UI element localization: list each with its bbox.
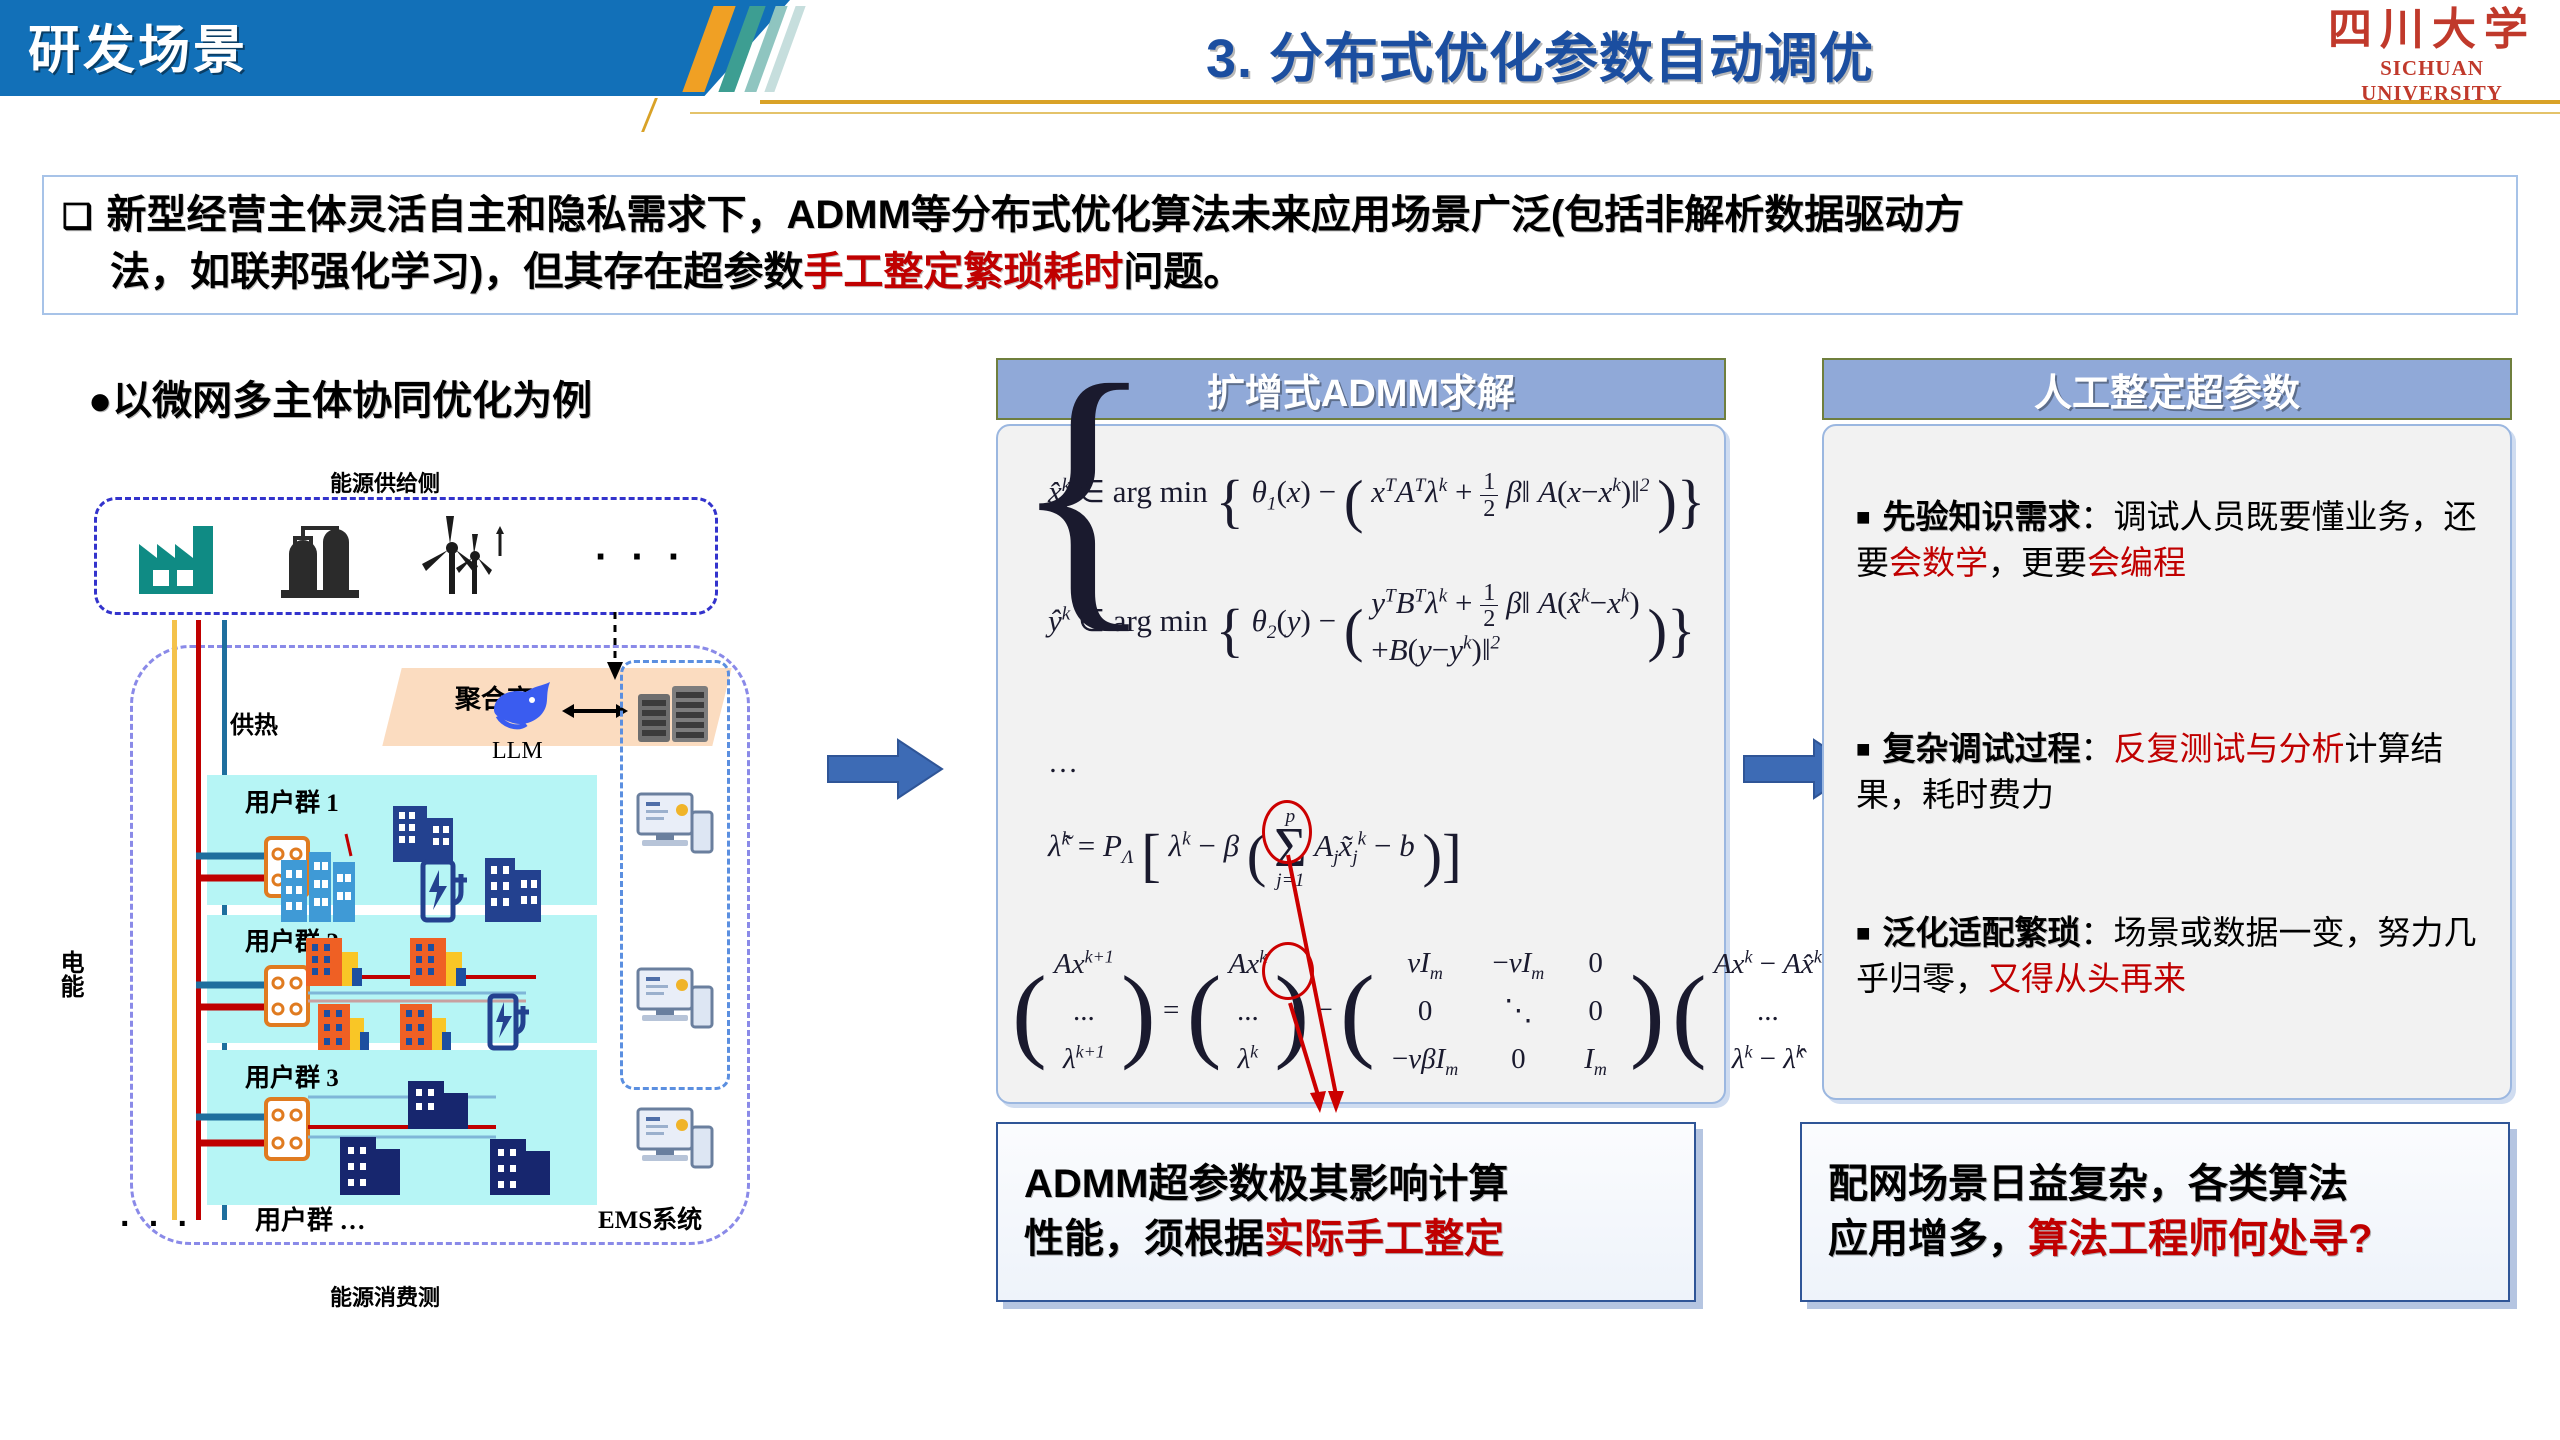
- equation-ellipsis: …: [1048, 746, 1078, 780]
- middle-conclusion-line2: 性能，须根据: [1024, 1217, 1264, 1261]
- bullet-square-icon-3: ■: [1856, 920, 1871, 947]
- bullet-square-icon-2: ■: [1856, 736, 1871, 763]
- bullet-square-icon-1: ■: [1856, 504, 1871, 531]
- ems-monitor-icon-2: [636, 965, 718, 1031]
- scene-tag: 研发场景: [28, 8, 248, 83]
- right-panel-header: 人工整定超参数: [1822, 358, 2512, 420]
- bullet-2-part-1: 反复测试与分析: [2114, 730, 2345, 767]
- flow-arrow-1: [826, 738, 944, 800]
- slide-header: 研发场景 3. 分布式优化参数自动调优 四川大学 SICHUAN UNIVERS…: [0, 0, 2560, 120]
- wind-turbine-icon: [412, 510, 512, 602]
- callout-line-2: 法，如联邦强化学习)，但其存在超参数手工整定繁琐耗时问题。: [62, 244, 2498, 301]
- group-3-buildings: [330, 1075, 590, 1205]
- equation-x-update: x̂k ∈ arg min { θ1(x) − ( xTATλk + 12 β‖…: [1048, 468, 1705, 536]
- bullet-1-title: 先验知识需求: [1883, 498, 2081, 535]
- equation-matrix-form: ( Axk+1 ... λk+1 ) = ( Axk ... λk ) − ( …: [1012, 940, 1864, 1085]
- right-conclusion-highlight: 算法工程师何处寻?: [2028, 1217, 2372, 1261]
- bullet-2-title: 复杂调试过程: [1883, 730, 2081, 767]
- university-logo: 四川大学 SICHUAN UNIVERSITY: [2312, 6, 2552, 106]
- ev-charger-icon: [423, 862, 467, 920]
- callout-line1-text: 新型经营主体灵活自主和隐私需求下，ADMM等分布式优化算法未来应用场景广泛(包括…: [106, 193, 1964, 237]
- group-1-buildings: [275, 800, 595, 940]
- callout-highlight-text: 手工整定繁琐耗时: [803, 250, 1123, 294]
- bullet-3-part-2: 又得从头再来: [1988, 960, 2186, 997]
- bullet-1-part-2: 会数学: [1889, 544, 1988, 581]
- equation-y-update: ŷk ∈ arg min { θ2(y) − ( yTBTλk + 12 β‖ …: [1048, 580, 1695, 668]
- ems-system-label: EMS系统: [598, 1200, 702, 1236]
- consumer-group-ellipsis-label: 用户群 …: [255, 1200, 366, 1237]
- electric-energy-label: 电能: [52, 950, 87, 998]
- right-bullet-3: ■泛化适配繁琐：场景或数据一变，努力几乎归零，又得从头再来: [1856, 910, 2482, 1001]
- gas-bus-line: [172, 620, 177, 1220]
- ems-monitor-icon-3: [636, 1105, 718, 1171]
- header-gold-thin-rule: [690, 112, 2560, 114]
- left-ellipsis-icon: · · ·: [120, 1205, 193, 1244]
- right-conclusion-box: 配网场景日益复杂，各类算法 应用增多，算法工程师何处寻?: [1800, 1122, 2510, 1302]
- gas-storage-icon: [275, 516, 365, 600]
- bullet-2-colon: ：: [2081, 730, 2114, 767]
- energy-consumption-label: 能源消费测: [330, 1280, 440, 1312]
- summary-callout-box: ❑新型经营主体灵活自主和隐私需求下，ADMM等分布式优化算法未来应用场景广泛(包…: [42, 175, 2518, 315]
- highlight-leader-lines: [1240, 855, 1380, 1125]
- ems-monitor-icon-1: [636, 790, 718, 856]
- bullet-1-part-3: ，更要: [1988, 544, 2087, 581]
- right-bullet-2: ■复杂调试过程：反复测试与分析计算结果，耗时费力: [1856, 726, 2482, 817]
- right-bullet-1: ■先验知识需求：调试人员既要懂业务，还要会数学，更要会编程: [1856, 494, 2482, 585]
- right-conclusion-text: 配网场景日益复杂，各类算法 应用增多，算法工程师何处寻?: [1802, 1157, 2398, 1267]
- callout-line2-text: 法，如联邦强化学习)，但其存在超参数: [110, 250, 803, 294]
- heat-supply-label: 供热: [230, 705, 278, 740]
- group-2-buildings: [300, 930, 600, 1060]
- bullet-3-colon: ：: [2081, 914, 2114, 951]
- middle-conclusion-line1: ADMM超参数极其影响计算: [1024, 1162, 1508, 1206]
- energy-supply-label: 能源供给侧: [330, 466, 440, 498]
- right-conclusion-line1: 配网场景日益复杂，各类算法: [1828, 1162, 2348, 1206]
- page-title: 3. 分布式优化参数自动调优: [980, 14, 2100, 93]
- left-section-title: ●以微网多主体协同优化为例: [88, 368, 592, 426]
- supply-ellipsis-icon: · · ·: [595, 535, 687, 580]
- header-stripes: [660, 0, 880, 98]
- bullet-3-title: 泛化适配繁琐: [1883, 914, 2081, 951]
- header-gold-rule: [760, 100, 2560, 104]
- right-conclusion-line2: 应用增多，: [1828, 1217, 2028, 1261]
- bullet-1-colon: ：: [2081, 498, 2114, 535]
- middle-conclusion-text: ADMM超参数极其影响计算 性能，须根据实际手工整定: [998, 1157, 1534, 1267]
- callout-line2-tail: 问题。: [1123, 250, 1243, 294]
- llm-server-link-arrow: [562, 700, 628, 722]
- callout-bullet-icon: ❑: [62, 198, 92, 236]
- llm-label: LLM: [492, 738, 543, 765]
- bullet-1-part-4: 会编程: [2087, 544, 2186, 581]
- factory-icon: [135, 516, 225, 600]
- middle-conclusion-highlight: 实际手工整定: [1264, 1217, 1504, 1261]
- middle-conclusion-box: ADMM超参数极其影响计算 性能，须根据实际手工整定: [996, 1122, 1696, 1302]
- logo-english-name: SICHUAN UNIVERSITY: [2312, 56, 2552, 106]
- llm-whale-icon: [488, 680, 558, 736]
- logo-chinese-name: 四川大学: [2312, 6, 2552, 54]
- callout-line-1: ❑新型经营主体灵活自主和隐私需求下，ADMM等分布式优化算法未来应用场景广泛(包…: [62, 187, 2498, 244]
- ev-charger-icon-2: [490, 996, 529, 1048]
- header-gold-chevron: [641, 98, 745, 132]
